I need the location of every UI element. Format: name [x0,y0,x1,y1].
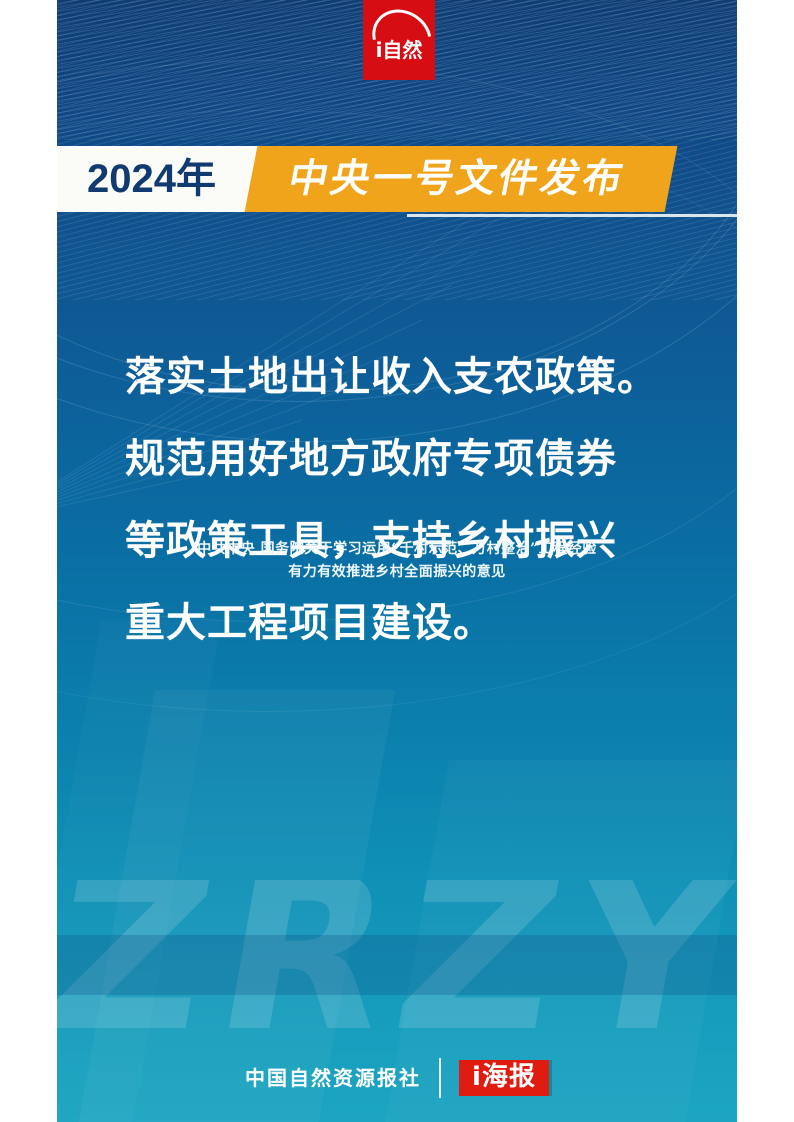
title-band: 2024年 中央一号文件发布 [57,146,737,212]
poster-canvas: i自然 2024年 中央一号文件发布 落实土地出让收入支农政策。 规范用好地方政… [57,0,737,1122]
caption-band [57,935,737,995]
credit-divider [439,1058,441,1098]
body-copy: 落实土地出让收入支农政策。 规范用好地方政府专项债券 等政策工具，支持乡村振兴 … [125,336,685,664]
caption-text: 中共中央 国务院关于学习运用“千村示范、万村整治”工程经验 有力有效推进乡村全面… [57,538,737,584]
caption-line-1: 中共中央 国务院关于学习运用“千村示范、万村整治”工程经验 [57,538,737,561]
credit-bar: 中国自然资源报社 i海报 [57,1055,737,1101]
publisher-name: 中国自然资源报社 [245,1068,421,1088]
caption-line-2: 有力有效推进乡村全面振兴的意见 [57,561,737,584]
ihaibao-badge: i海报 [459,1060,549,1096]
poster-page: i自然 2024年 中央一号文件发布 落实土地出让收入支农政策。 规范用好地方政… [0,0,794,1122]
title-band-underline [407,214,737,217]
title-year-label: 2024年 [87,159,216,199]
title-headline: 中央一号文件发布 [253,160,661,199]
ihaibao-badge-label: i海报 [472,1064,536,1090]
body-line: 重大工程项目建设。 [125,582,685,664]
body-line: 落实土地出让收入支农政策。 [125,336,685,418]
decorative-panel [57,620,221,1122]
logo-label: i自然 [376,40,423,60]
i-nature-logo-icon: i自然 [363,0,435,80]
body-line: 规范用好地方政府专项债券 [125,418,685,500]
